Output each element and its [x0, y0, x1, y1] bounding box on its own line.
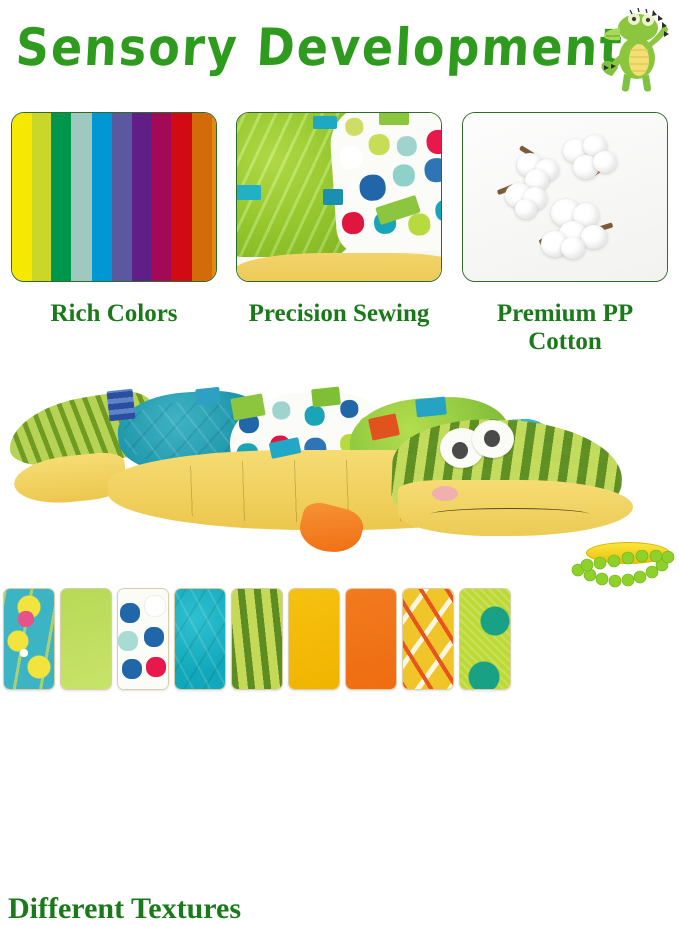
- texture-swatch-lime-terry-teal-dots: [459, 588, 511, 690]
- color-stripe-4: [92, 113, 112, 281]
- texture-swatch-teal-circle-print-fabric: [3, 588, 55, 690]
- polka-dot-10: [435, 199, 442, 222]
- toy-polka-dot-3: [340, 399, 359, 418]
- color-stripe-1: [32, 113, 51, 281]
- color-stripe-10: [212, 113, 216, 281]
- swatch-fill: [175, 589, 225, 689]
- color-stripe-9: [192, 113, 212, 281]
- swatch-dot: [118, 631, 138, 651]
- polka-dot-2: [396, 135, 417, 156]
- toy-cheek-blush: [432, 486, 458, 501]
- fabric-tag-teal-1: [236, 185, 261, 200]
- swatch-dot: [144, 595, 166, 617]
- swatch-dot: [120, 603, 140, 623]
- polka-dot-11: [345, 117, 364, 136]
- swatch-fill: [4, 589, 54, 689]
- color-stripe-8: [171, 113, 191, 281]
- page-title: Sensory Development: [14, 17, 625, 77]
- polka-dot-fabric: [328, 112, 442, 257]
- polka-dot-7: [341, 211, 364, 234]
- color-stripe-2: [51, 113, 71, 281]
- color-stripe-3: [71, 113, 91, 281]
- swatch-fill: [460, 589, 510, 689]
- swatch-dot: [122, 659, 142, 679]
- feature-captions: Rich Colors Precision Sewing Premium PP …: [0, 300, 679, 368]
- caption-precision-sewing: Precision Sewing: [236, 300, 442, 328]
- feature-image-premium-pp-cotton: [462, 112, 668, 282]
- swatch-fill: [232, 589, 282, 689]
- texture-swatch-white-polka-dot-fabric: [117, 588, 169, 690]
- polka-dot-3: [359, 174, 387, 202]
- toy-pupil-right: [484, 430, 500, 447]
- crocodile-mascot-icon: [598, 2, 676, 94]
- swatch-fill: [118, 589, 168, 689]
- polka-dot-5: [424, 157, 442, 183]
- feature-image-rich-colors: [11, 112, 217, 282]
- toy-tag-teal-3: [415, 396, 447, 417]
- caption-premium-pp-cotton: Premium PP Cotton: [462, 300, 668, 356]
- polka-dot-6: [426, 129, 442, 155]
- toy-mouth-line: [430, 508, 590, 521]
- polka-dot-1: [368, 133, 390, 155]
- swatch-fill: [346, 589, 396, 689]
- texture-swatch-lime-plush-fabric: [60, 588, 112, 690]
- color-stripe-7: [151, 113, 171, 281]
- texture-swatch-green-ribbed-corduroy: [231, 588, 283, 690]
- toy-polka-dot-2: [304, 405, 325, 426]
- toy-pupil-left: [452, 442, 468, 459]
- color-stripe-5: [112, 113, 132, 281]
- color-stripe-6: [132, 113, 151, 281]
- toy-tag-teal-small: [195, 387, 221, 405]
- swatch-dot: [20, 649, 28, 657]
- texture-swatch-row: [0, 588, 679, 694]
- crocodile-plush-toy: [0, 368, 679, 584]
- swatch-fill: [61, 589, 111, 689]
- toy-tag-green-2: [311, 387, 341, 408]
- hero-label-different-textures: Different Textures: [8, 892, 241, 926]
- hero-product-photo: Different Textures: [0, 368, 679, 584]
- color-stripe-0: [12, 113, 32, 281]
- polka-dot-0: [339, 145, 364, 170]
- toy-tag-blue: [107, 389, 136, 422]
- swatch-dot: [146, 657, 166, 677]
- texture-swatch-golden-yellow-fabric: [288, 588, 340, 690]
- fabric-tag-teal-2: [313, 116, 337, 129]
- swatch-dot: [144, 627, 164, 647]
- color-stripes: [12, 113, 216, 281]
- infographic-canvas: Sensory Development: [0, 0, 679, 696]
- swatch-fill: [403, 589, 453, 689]
- header: Sensory Development: [0, 0, 679, 100]
- texture-swatch-yellow-plaid-terry: [402, 588, 454, 690]
- feature-panels: [0, 112, 679, 288]
- fabric-tag-teal-3: [323, 189, 343, 205]
- polka-dot-4: [392, 164, 415, 187]
- texture-swatch-orange-fabric: [345, 588, 397, 690]
- fabric-tag-green-1: [379, 112, 409, 125]
- texture-swatch-teal-quilted-fabric: [174, 588, 226, 690]
- toy-polka-dot-1: [272, 401, 291, 420]
- cotton-bolls: [463, 113, 667, 281]
- polka-dot-9: [408, 213, 431, 236]
- swatch-fill: [289, 589, 339, 689]
- yellow-belly-fabric: [236, 253, 442, 282]
- plush-closeup: [237, 113, 441, 281]
- teether-green-beads: [570, 550, 678, 590]
- feature-image-precision-sewing: [236, 112, 442, 282]
- swatch-flower: [18, 611, 34, 627]
- caption-rich-colors: Rich Colors: [11, 300, 217, 328]
